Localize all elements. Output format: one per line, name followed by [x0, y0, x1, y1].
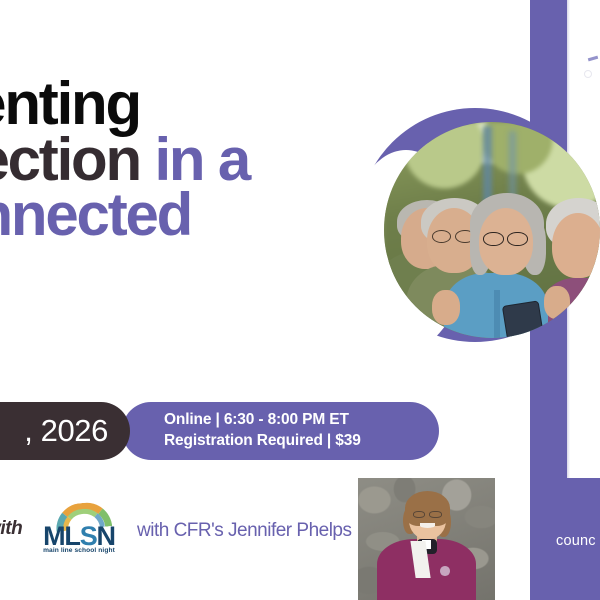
person-3-shirt-placket: [494, 290, 499, 338]
page-title: venting nection in a onnected d: [0, 78, 412, 296]
headline-line-1: venting: [0, 78, 412, 130]
bottom-panel-council-label: counc: [556, 533, 596, 549]
portrait-hair: [405, 491, 450, 525]
event-details-line-2: Registration Required | $39: [164, 431, 439, 452]
mlsn-tagline: main line school night: [33, 547, 125, 554]
portrait-glasses-left: [413, 511, 425, 518]
speaker-portrait-photo: [358, 478, 495, 600]
top-right-artifact-mark: [588, 56, 598, 62]
event-details-pill: Online | 6:30 - 8:00 PM ET Registration …: [122, 402, 439, 460]
person-3-glasses-right: [507, 232, 528, 246]
portrait-smile: [420, 523, 435, 528]
hand-left: [432, 290, 460, 325]
portrait-glasses-right: [429, 511, 441, 518]
top-right-artifact-circle: [584, 70, 592, 78]
group-photo-circle: [384, 122, 600, 338]
person-4-head: [552, 213, 600, 278]
headline-line-2: nection in a: [0, 134, 412, 186]
event-date-pill: , 2026: [0, 402, 130, 460]
hand-right: [544, 286, 570, 318]
smartphone-icon: [502, 301, 545, 338]
headline-line-4: d: [0, 245, 412, 297]
headline-line-3: onnected: [0, 189, 412, 241]
speaker-credit-text: with CFR's Jennifer Phelps: [137, 520, 352, 542]
portrait-brooch-pin: [440, 566, 450, 576]
event-date-text: , 2026: [24, 413, 108, 449]
person-2-glasses-left: [432, 230, 451, 243]
mlsn-logo: MLSN main line school night: [33, 503, 125, 555]
presented-with-label: with: [0, 518, 22, 540]
event-details-line-1: Online | 6:30 - 8:00 PM ET: [164, 410, 439, 431]
person-3-glasses-left: [483, 232, 504, 246]
promo-graphic-canvas: venting nection in a onnected d Online |…: [0, 0, 600, 600]
